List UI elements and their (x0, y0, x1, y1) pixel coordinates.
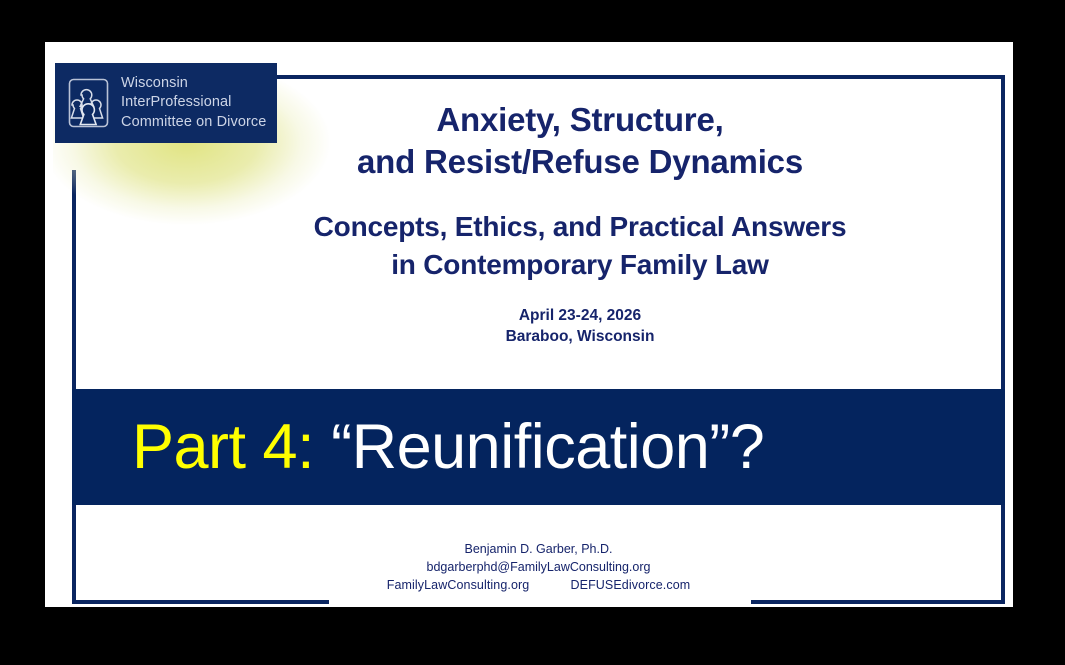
logo-line-1: Wisconsin (121, 74, 266, 93)
part-banner: Part 4: “Reunification”? (72, 389, 1005, 505)
subtitle-line-2: in Contemporary Family Law (185, 246, 975, 283)
frame-top-line (268, 75, 1005, 79)
footer-contact: Benjamin D. Garber, Ph.D. bdgarberphd@Fa… (72, 540, 1005, 594)
three-people-keyhole-icon (68, 78, 109, 128)
website-secondary[interactable]: DEFUSEdivorce.com (571, 578, 691, 592)
frame-right-line (1001, 75, 1005, 390)
title-line-2: and Resist/Refuse Dynamics (185, 141, 975, 183)
title-line-1: Anxiety, Structure, (185, 99, 975, 141)
subtitle-line-1: Concepts, Ethics, and Practical Answers (185, 208, 975, 245)
website-primary[interactable]: FamilyLawConsulting.org (387, 578, 530, 592)
event-info: April 23-24, 2026 Baraboo, Wisconsin (185, 305, 975, 348)
frame-left-line (72, 170, 76, 390)
part-label: Part 4: (132, 412, 314, 482)
presenter-websites: FamilyLawConsulting.org DEFUSEdivorce.co… (72, 576, 1005, 594)
headline-block: Anxiety, Structure, and Resist/Refuse Dy… (185, 99, 975, 348)
footer-bottom-left-line (72, 600, 329, 604)
part-topic: “Reunification”? (331, 412, 764, 482)
event-date: April 23-24, 2026 (185, 305, 975, 326)
presenter-email[interactable]: bdgarberphd@FamilyLawConsulting.org (72, 558, 1005, 576)
part-banner-text: Part 4: “Reunification”? (132, 416, 764, 479)
slide-subtitle: Concepts, Ethics, and Practical Answers … (185, 208, 975, 282)
event-location: Baraboo, Wisconsin (185, 326, 975, 347)
screen-canvas: Wisconsin InterProfessional Committee on… (0, 0, 1065, 665)
presenter-name: Benjamin D. Garber, Ph.D. (72, 540, 1005, 558)
slide-title: Anxiety, Structure, and Resist/Refuse Dy… (185, 99, 975, 183)
presentation-slide: Wisconsin InterProfessional Committee on… (45, 42, 1013, 607)
footer-bottom-right-line (751, 600, 1005, 604)
